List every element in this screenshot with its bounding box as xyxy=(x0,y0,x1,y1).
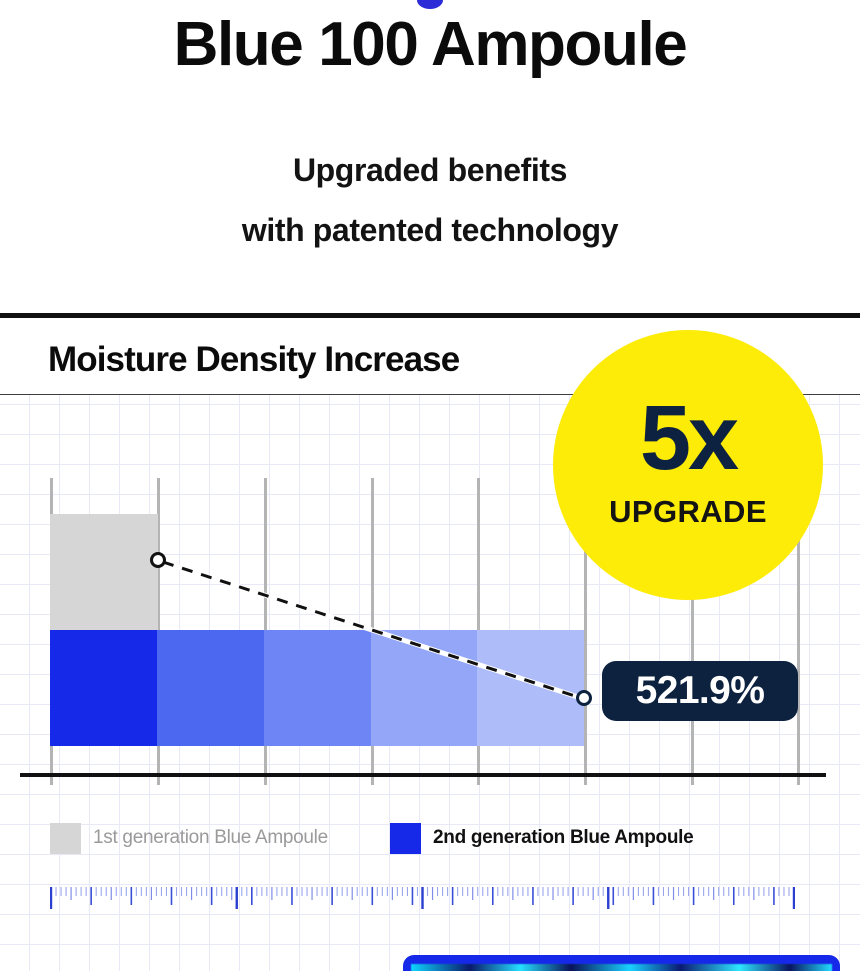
infographic-page: 5x UPGRADE 521.9% 1st generation Blue Am… xyxy=(0,0,860,971)
page-title: Blue 100 Ampoule xyxy=(0,10,860,79)
legend-swatch-gray xyxy=(50,823,81,854)
hero-accent-dot xyxy=(417,0,443,9)
legend-label-first-generation: 1st generation Blue Ampoule xyxy=(93,827,328,849)
bar-segment-5 xyxy=(477,630,584,746)
chart-legend: 1st generation Blue Ampoule 2nd generati… xyxy=(0,820,860,856)
value-badge: 521.9% xyxy=(602,661,798,721)
bar-segment-2 xyxy=(157,630,264,746)
page-subtitle-line-1: Upgraded benefits xyxy=(0,140,860,200)
bottom-cta-chip-content xyxy=(411,964,832,971)
section-title: Moisture Density Increase xyxy=(48,340,459,380)
legend-label-second-generation: 2nd generation Blue Ampoule xyxy=(433,827,693,849)
legend-swatch-blue xyxy=(390,823,421,854)
page-subtitle-line-2: with patented technology xyxy=(0,200,860,260)
upgrade-label: UPGRADE xyxy=(609,494,767,530)
upgrade-multiplier: 5x xyxy=(640,396,736,481)
bar-segment-4 xyxy=(371,630,477,746)
bar-first-generation xyxy=(50,514,158,632)
axis-baseline xyxy=(20,773,826,777)
bar-segment-3 xyxy=(264,630,371,746)
hero-header: Blue 100 Ampoule Upgraded benefits with … xyxy=(0,0,860,315)
legend-item-second-generation: 2nd generation Blue Ampoule xyxy=(390,820,693,856)
page-subtitle: Upgraded benefits with patented technolo… xyxy=(0,140,860,260)
ruler-scale-icon xyxy=(50,885,795,911)
bar-segment-1 xyxy=(50,630,157,746)
legend-item-first-generation: 1st generation Blue Ampoule xyxy=(50,820,328,856)
upgrade-badge: 5x UPGRADE xyxy=(553,330,823,600)
bottom-cta-chip[interactable] xyxy=(403,955,840,971)
bar-second-generation xyxy=(50,630,584,746)
